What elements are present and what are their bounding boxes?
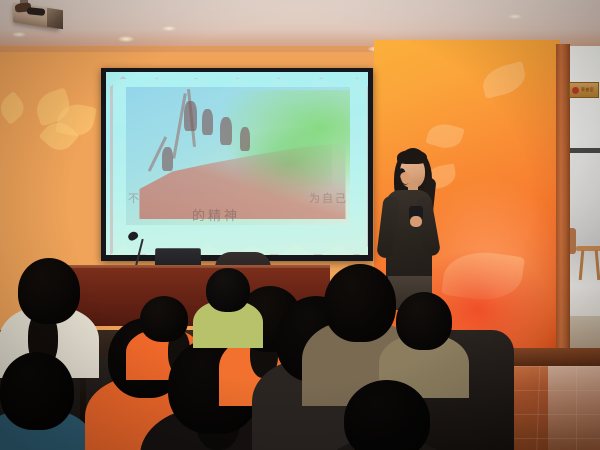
audience-member-head xyxy=(324,264,396,342)
slide-photo-figure xyxy=(220,117,232,145)
downlight xyxy=(508,14,522,19)
presenter-hand-lower xyxy=(410,216,422,227)
lecture-hall-photo: 荣誉室 不 为自己 的精神 xyxy=(0,0,600,450)
slide-photo-figure xyxy=(202,109,213,135)
door-frame xyxy=(556,44,570,350)
plaque-label: 荣誉室 xyxy=(581,88,594,92)
downlight xyxy=(12,32,26,37)
floor-light-patch xyxy=(548,352,600,450)
downlight xyxy=(162,26,176,31)
projection-screen-surface: 不 为自己 的精神 xyxy=(106,72,368,255)
slide-photo-figure xyxy=(162,147,173,171)
slide-text-left: 不 xyxy=(128,190,141,206)
slide-text-center: 的精神 xyxy=(192,205,240,224)
downlight xyxy=(118,36,134,42)
corridor-floor xyxy=(570,316,600,350)
audience-member-head xyxy=(396,292,452,350)
projector-lens xyxy=(47,8,63,30)
plaque-seal-icon xyxy=(572,87,579,94)
audience-member-head xyxy=(140,296,188,342)
presenter-hair-fringe xyxy=(397,150,427,164)
slide-photo-figure xyxy=(240,127,250,151)
audience-member-head xyxy=(206,268,250,312)
audience-member-head xyxy=(0,352,74,430)
audience-member-head xyxy=(18,258,80,324)
slide-photo-figure xyxy=(184,101,197,131)
slide-text-right: 为自己 xyxy=(309,190,348,206)
audience-member-head xyxy=(344,380,430,450)
window-mullion xyxy=(570,148,600,153)
wall-plaque: 荣誉室 xyxy=(569,82,599,98)
slide-text-row: 不 为自己 xyxy=(128,190,348,206)
